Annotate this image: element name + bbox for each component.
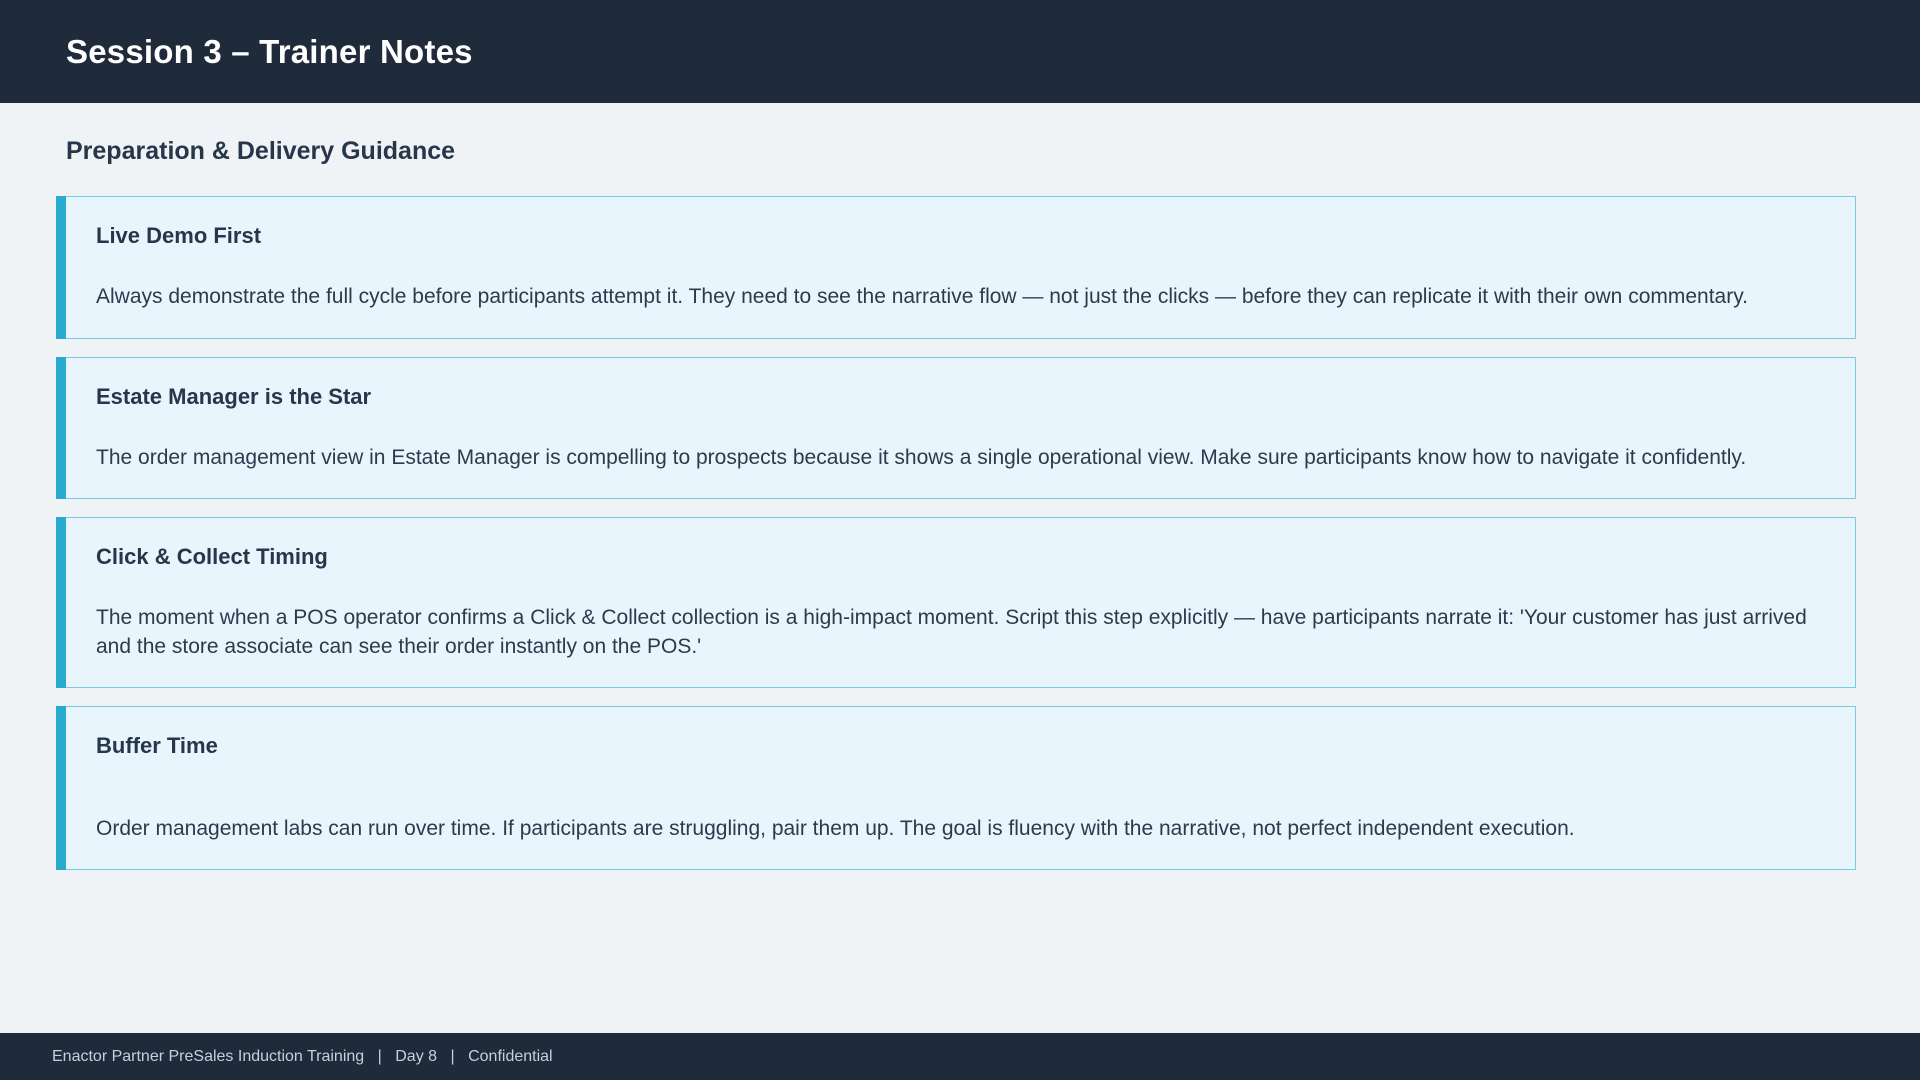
guidance-card: Click & Collect Timing The moment when a… <box>66 517 1856 688</box>
guidance-card-title: Live Demo First <box>96 223 1825 249</box>
footer-separator-2: | <box>441 1049 463 1065</box>
guidance-card: Buffer Time Order management labs can ru… <box>66 706 1856 871</box>
guidance-card-body: Order management labs can run over time.… <box>96 815 1825 843</box>
guidance-card-title: Click & Collect Timing <box>96 544 1825 570</box>
page-title: Session 3 – Trainer Notes <box>66 35 473 68</box>
footer-course: Enactor Partner PreSales Induction Train… <box>52 1048 364 1065</box>
footer-classification: Confidential <box>468 1048 553 1065</box>
guidance-card-body: The moment when a POS operator confirms … <box>96 604 1825 660</box>
guidance-card: Live Demo First Always demonstrate the f… <box>66 196 1856 339</box>
guidance-card: Estate Manager is the Star The order man… <box>66 357 1856 500</box>
slide: Session 3 – Trainer Notes Preparation & … <box>0 0 1920 1080</box>
footer-text: Enactor Partner PreSales Induction Train… <box>52 1049 553 1065</box>
guidance-card-title: Estate Manager is the Star <box>96 384 1825 410</box>
slide-footer: Enactor Partner PreSales Induction Train… <box>0 1033 1920 1080</box>
guidance-card-list: Live Demo First Always demonstrate the f… <box>66 196 1856 888</box>
slide-body: Preparation & Delivery Guidance Live Dem… <box>0 103 1920 1033</box>
footer-separator-1: | <box>369 1049 391 1065</box>
footer-day: Day 8 <box>395 1048 437 1065</box>
section-heading: Preparation & Delivery Guidance <box>66 139 455 164</box>
guidance-card-body: The order management view in Estate Mana… <box>96 444 1825 472</box>
guidance-card-body: Always demonstrate the full cycle before… <box>96 283 1825 311</box>
slide-header: Session 3 – Trainer Notes <box>0 0 1920 103</box>
guidance-card-title: Buffer Time <box>96 733 1825 759</box>
